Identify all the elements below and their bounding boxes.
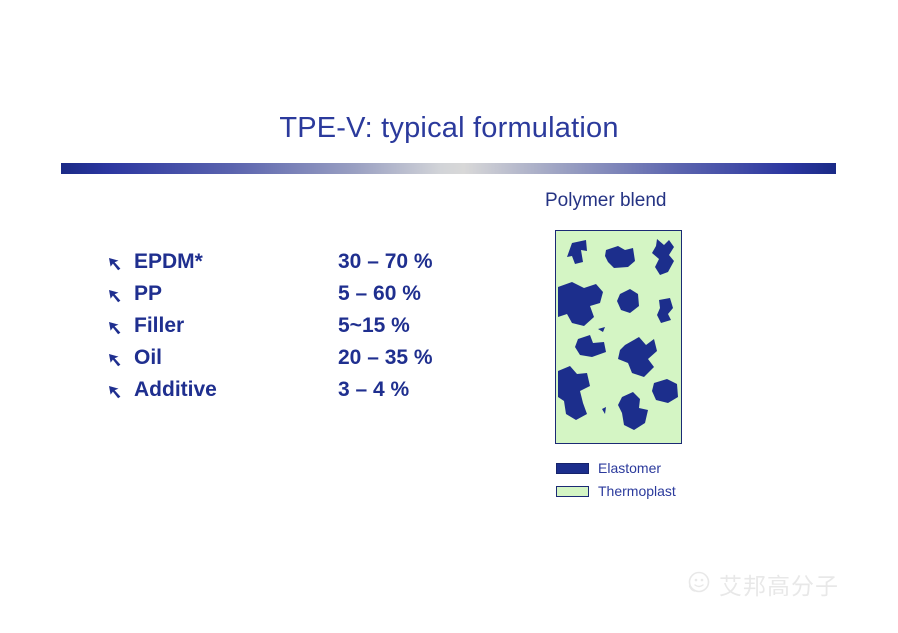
blend-heading: Polymer blend (545, 190, 666, 212)
arrow-up-left-icon (108, 342, 128, 367)
arrow-up-left-icon (108, 374, 128, 399)
component-amount: 30 – 70 % (338, 246, 433, 278)
blend-legend: Elastomer Thermoplast (556, 457, 756, 503)
component-amount: 20 – 35 % (338, 342, 433, 374)
legend-label: Thermoplast (598, 480, 676, 503)
list-item: PP 5 – 60 % (108, 278, 488, 310)
component-name: Oil (134, 342, 162, 374)
title-divider (61, 163, 836, 174)
watermark: 艾邦高分子 (686, 567, 839, 601)
elastomer-color-swatch (556, 463, 589, 474)
smiley-circle-logo-icon (686, 569, 712, 600)
component-amount: 5~15 % (338, 310, 410, 342)
component-amount: 5 – 60 % (338, 278, 421, 310)
arrow-up-left-icon (108, 278, 128, 303)
component-name: Additive (134, 374, 217, 406)
arrow-up-left-icon (108, 310, 128, 335)
list-item: Additive 3 – 4 % (108, 374, 488, 406)
thermoplast-color-swatch (556, 486, 589, 497)
list-item: Oil 20 – 35 % (108, 342, 488, 374)
list-item: Filler 5~15 % (108, 310, 488, 342)
list-item: EPDM* 30 – 70 % (108, 246, 488, 278)
page-title: TPE-V: typical formulation (0, 112, 898, 145)
legend-item-elastomer: Elastomer (556, 457, 756, 480)
polymer-blend-diagram (555, 230, 682, 444)
watermark-text: 艾邦高分子 (719, 567, 839, 601)
component-amount: 3 – 4 % (338, 374, 409, 406)
component-name: Filler (134, 310, 184, 342)
legend-item-thermoplast: Thermoplast (556, 480, 756, 503)
formulation-list: EPDM* 30 – 70 % PP 5 – 60 % Filler 5~15 … (108, 246, 488, 406)
arrow-up-left-icon (108, 246, 128, 271)
component-name: PP (134, 278, 162, 310)
legend-label: Elastomer (598, 457, 661, 480)
component-name: EPDM* (134, 246, 203, 278)
